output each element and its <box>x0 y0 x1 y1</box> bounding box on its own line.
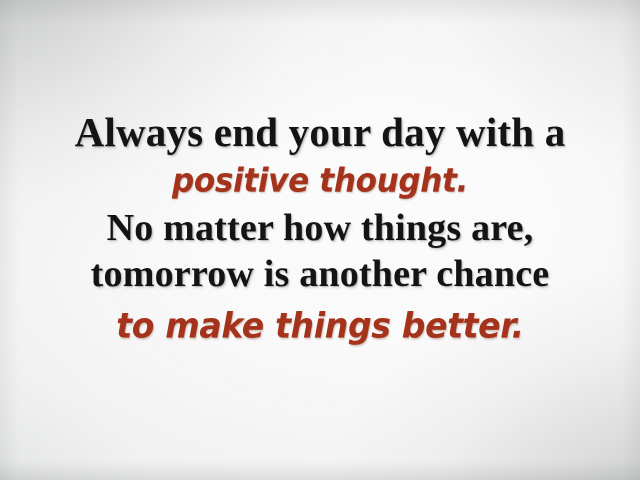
quote-line-1: Always end your day with a <box>0 112 640 153</box>
quote-line-5-highlight: to make things better. <box>0 308 640 343</box>
quote-poster: Always end your day with a positive thou… <box>0 0 640 480</box>
quote-line-4: tomorrow is another chance <box>0 255 640 293</box>
quote-line-3: No matter how things are, <box>0 209 640 247</box>
quote-line-2-highlight: positive thought. <box>0 165 640 198</box>
quote-text-block: Always end your day with a positive thou… <box>0 0 640 480</box>
